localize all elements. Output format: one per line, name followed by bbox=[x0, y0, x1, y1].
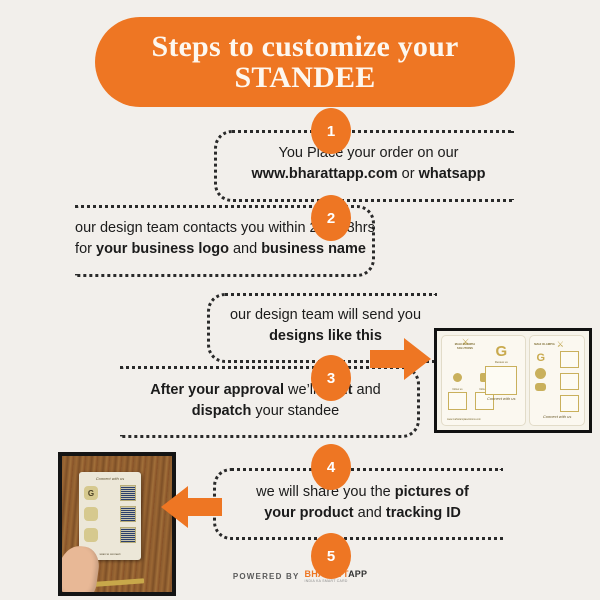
mockup-logo: ⚔ MAHI OLAMPIA SOLUTIONS bbox=[448, 342, 482, 350]
title-banner: Steps to customize your STANDEE bbox=[95, 17, 515, 107]
step-text-plain: and bbox=[229, 241, 261, 257]
title-line-1: Steps to customize your bbox=[151, 30, 458, 63]
google-icon: G bbox=[483, 344, 519, 359]
design-panel-right: MAHI OLAMPIA ⚔ G Connect with us bbox=[529, 335, 585, 426]
qr-placeholder bbox=[560, 373, 579, 390]
connect-script-text: Connect with us bbox=[530, 414, 584, 419]
step-text-line: You Place your order on our bbox=[223, 143, 514, 164]
standee-row: G bbox=[84, 485, 136, 501]
step-number-2: 2 bbox=[311, 195, 351, 241]
step-number-3: 3 bbox=[311, 355, 351, 401]
mockup-brand-name: MAHI OLAMPIA bbox=[534, 343, 555, 346]
page-title: Steps to customize your STANDEE bbox=[133, 31, 476, 93]
qr-placeholder bbox=[485, 366, 517, 395]
icon-caption-facebook: follow us bbox=[448, 388, 467, 391]
step-text-strong: your business logo bbox=[96, 241, 229, 257]
instagram-icon bbox=[84, 507, 98, 521]
footer: ड| POWERED BY BHARATTAPP INDIA KA SMART … bbox=[0, 570, 600, 583]
title-line-2: STANDEE bbox=[235, 61, 376, 94]
step-text-strong: business name bbox=[261, 241, 366, 257]
google-caption: Review us bbox=[483, 360, 519, 364]
step-text-line: After your approval we’ll print and bbox=[120, 380, 411, 401]
step-text-line: for your business logo and business name bbox=[75, 239, 366, 260]
step-text-plain: for bbox=[75, 241, 96, 257]
wings-icon: ⚔ bbox=[557, 340, 563, 349]
mockup-url: www.mahiolampiasolutions.com bbox=[447, 418, 481, 421]
standee-row bbox=[84, 506, 136, 522]
qr-placeholder bbox=[448, 392, 467, 410]
arrow-left-icon bbox=[160, 485, 222, 534]
brand-second: APP bbox=[348, 569, 367, 579]
step-text-strong: www.bharattapp.com bbox=[252, 166, 398, 182]
step-text-plain: our design team will send you bbox=[230, 307, 421, 323]
brand-tagline: INDIA KA SMART CARD bbox=[305, 580, 348, 583]
qr-code bbox=[120, 485, 136, 501]
step-number-1: 1 bbox=[311, 108, 351, 154]
step-text-plain: You Place your order on our bbox=[278, 145, 458, 161]
facebook-icon bbox=[535, 368, 546, 379]
step-text-strong: tracking ID bbox=[386, 505, 461, 521]
step-text-strong: After your approval bbox=[150, 382, 284, 398]
step-number-5: 5 bbox=[311, 533, 351, 579]
step-text-plain: and bbox=[354, 505, 386, 521]
infographic-canvas: Steps to customize your STANDEE You Plac… bbox=[0, 0, 600, 600]
step-text-plain: your standee bbox=[251, 403, 339, 419]
standee-row bbox=[84, 527, 136, 543]
arrow-right-icon bbox=[370, 337, 432, 386]
google-icon: G bbox=[537, 353, 546, 364]
step-text-line: we will share you the pictures of bbox=[222, 482, 503, 503]
step-text-strong: designs like this bbox=[269, 328, 382, 344]
powered-by-label: POWERED BY bbox=[233, 572, 300, 581]
qr-placeholder bbox=[560, 395, 579, 412]
mockup-brand-name: MAHI OLAMPIA bbox=[448, 343, 482, 346]
qr-code bbox=[120, 506, 136, 522]
step-box-5: we will share you the pictures ofyour pr… bbox=[213, 468, 503, 540]
connect-script-text: Connect with us bbox=[483, 396, 519, 401]
design-sample-image: ⚔ MAHI OLAMPIA SOLUTIONS follow us follo… bbox=[434, 328, 592, 433]
standee-header-text: Connect with us bbox=[79, 476, 141, 481]
step-text-line: our design team will send you bbox=[214, 305, 437, 326]
step-text-strong: dispatch bbox=[192, 403, 252, 419]
google-icon: G bbox=[84, 486, 98, 500]
mockup-brand-sub: SOLUTIONS bbox=[448, 347, 482, 350]
step-text-line: www.bharattapp.com or whatsapp bbox=[223, 164, 514, 185]
step-text-strong: pictures of bbox=[395, 484, 469, 500]
qr-code bbox=[120, 527, 136, 543]
step-text-strong: whatsapp bbox=[419, 166, 486, 182]
step-number-4: 4 bbox=[311, 444, 351, 490]
step-text-strong: your product bbox=[264, 505, 353, 521]
qr-placeholder bbox=[560, 351, 579, 368]
step-text-plain: or bbox=[398, 166, 419, 182]
step-text-line: dispatch your standee bbox=[120, 401, 411, 422]
facebook-icon bbox=[453, 373, 462, 382]
whatsapp-icon bbox=[84, 528, 98, 542]
design-panel-left: ⚔ MAHI OLAMPIA SOLUTIONS follow us follo… bbox=[441, 335, 526, 426]
step-text-line: your product and tracking ID bbox=[222, 503, 503, 524]
step-box-1: You Place your order on ourwww.bharattap… bbox=[214, 130, 514, 202]
youtube-icon bbox=[535, 383, 546, 391]
